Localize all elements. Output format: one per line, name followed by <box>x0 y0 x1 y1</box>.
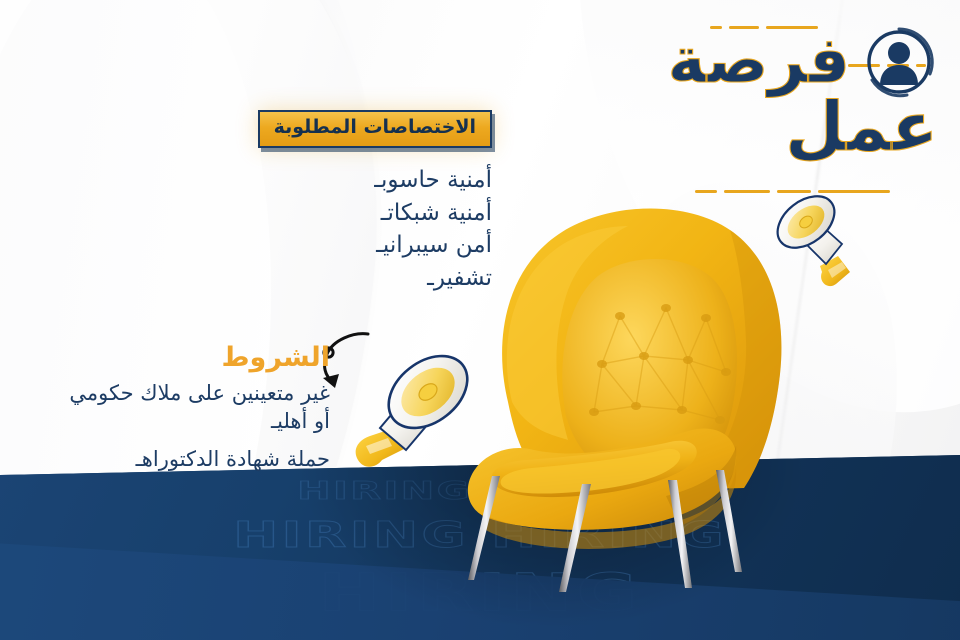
specialties-list: أمنية حاسوبـ أمنية شبكاتـ أمن سيبرانيـ ت… <box>232 164 492 295</box>
list-item: تشفيرـ <box>232 262 492 295</box>
condition-label: غير متعينين على ملاك حكومي أو أهلي <box>69 381 330 433</box>
conditions-list: غير متعينين على ملاك حكومي أو أهليـ حملة… <box>68 379 330 473</box>
dash <box>818 190 890 193</box>
list-item: أمنية شبكاتـ <box>232 197 492 230</box>
headline-line-2: عمل <box>608 94 938 162</box>
headline-word-1: فرصة <box>668 29 850 93</box>
chair-legs <box>430 470 810 600</box>
list-item: حملة شهادة الدكتوراهـ <box>68 445 330 473</box>
headline-block: فرصة عمل <box>608 22 938 162</box>
megaphone-right <box>762 186 866 296</box>
dash <box>724 190 770 193</box>
dash <box>695 190 717 193</box>
specialties-badge: الاختصاصات المطلوبة <box>258 110 492 148</box>
specialty-label: أمن سيبراني <box>383 232 492 258</box>
headline-dashes-bottom <box>695 190 890 193</box>
specialty-label: أمنية حاسوب <box>381 167 492 193</box>
condition-label: حملة شهادة الدكتوراه <box>142 447 330 471</box>
list-item: أمن سيبرانيـ <box>232 229 492 262</box>
headline-word-2: عمل <box>785 94 938 162</box>
conditions-title: الشروط <box>68 344 330 371</box>
specialties-block: الاختصاصات المطلوبة أمنية حاسوبـ أمنية ش… <box>232 110 492 310</box>
specialty-label: أمنية شبكات <box>387 200 492 226</box>
dash-mark: ـ <box>376 232 383 258</box>
dash-mark: ـ <box>427 265 434 291</box>
list-item: غير متعينين على ملاك حكومي أو أهليـ <box>68 379 330 435</box>
list-item: أمنية حاسوبـ <box>232 164 492 197</box>
conditions-block: الشروط غير متعينين على ملاك حكومي أو أهل… <box>68 344 330 473</box>
poster-canvas: HIRING HIRING HIRING HIRING HIRING HIRIN… <box>0 0 960 640</box>
dash <box>777 190 811 193</box>
dash-mark: ـ <box>374 167 381 193</box>
specialty-label: تشفير <box>434 265 492 291</box>
